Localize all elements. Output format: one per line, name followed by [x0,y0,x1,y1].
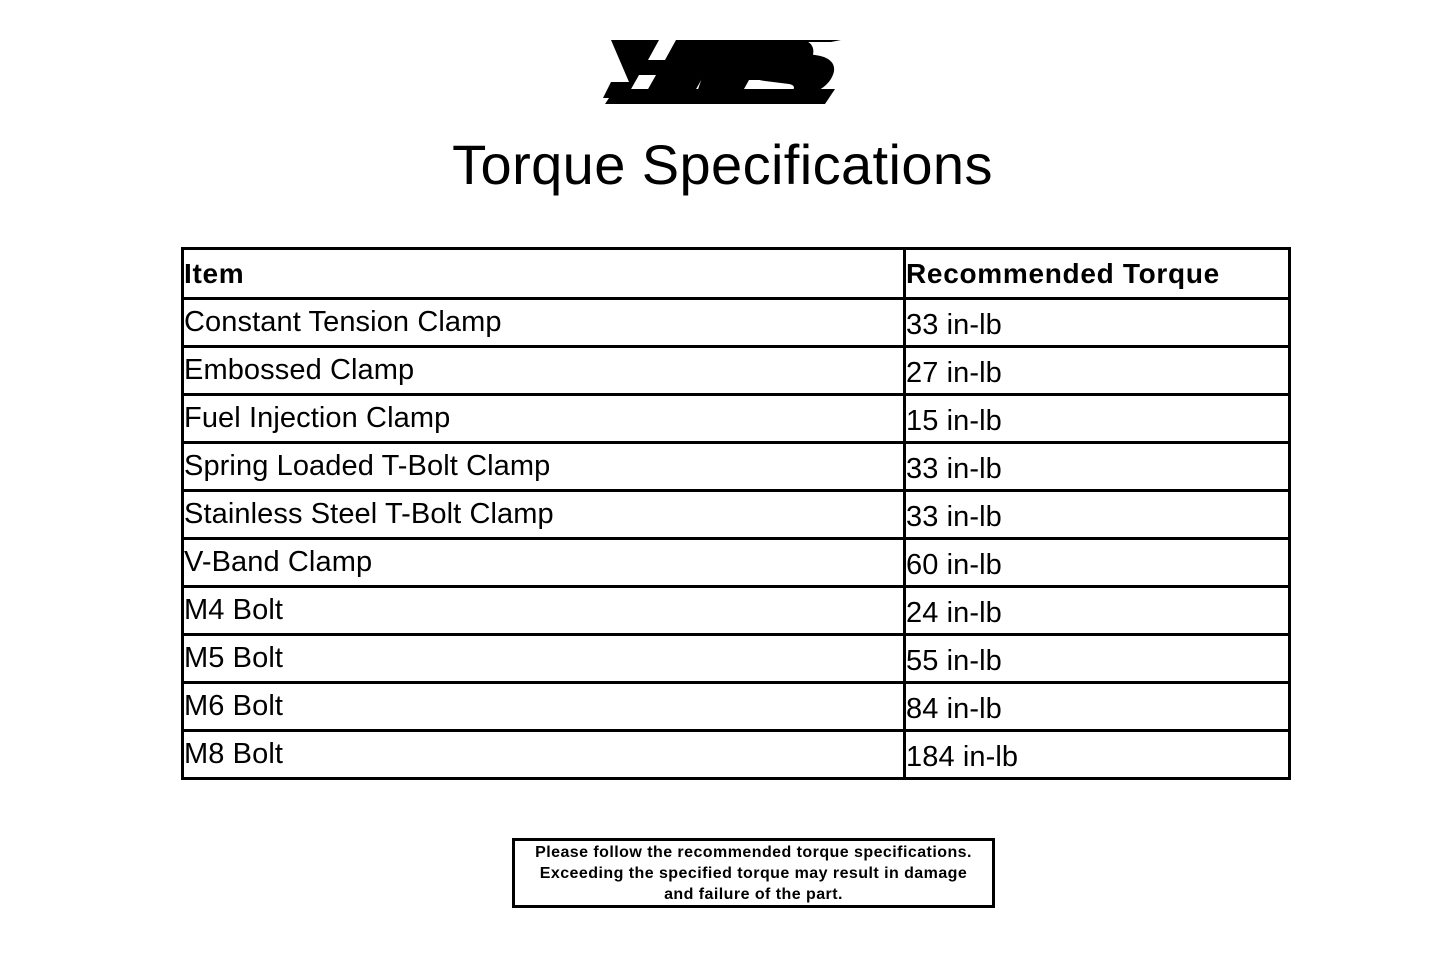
cell-item: M8 Bolt [183,731,905,779]
table-row: Fuel Injection Clamp 15 in-lb [183,395,1290,443]
column-header-torque: Recommended Torque [905,249,1290,299]
torque-table-container: Item Recommended Torque Constant Tension… [181,247,1288,780]
table-body: Constant Tension Clamp 33 in-lb Embossed… [183,299,1290,779]
cell-torque: 55 in-lb [905,638,1290,686]
cell-item: M5 Bolt [183,635,905,683]
cell-torque: 15 in-lb [905,398,1290,446]
cell-torque: 184 in-lb [905,734,1290,782]
cell-item: M4 Bolt [183,587,905,635]
brand-logo [0,34,1445,110]
page-title: Torque Specifications [0,130,1445,200]
cell-torque: 33 in-lb [905,302,1290,350]
footnote-line: and failure of the part. [664,884,843,905]
footnote-line: Please follow the recommended torque spe… [535,842,972,863]
table-row: Embossed Clamp 27 in-lb [183,347,1290,395]
table-row: M6 Bolt 84 in-lb [183,683,1290,731]
cell-torque: 33 in-lb [905,494,1290,542]
cell-item: M6 Bolt [183,683,905,731]
table-row: Constant Tension Clamp 33 in-lb [183,299,1290,347]
cell-item: Fuel Injection Clamp [183,395,905,443]
cell-item: Constant Tension Clamp [183,299,905,347]
cell-torque: 24 in-lb [905,590,1290,638]
cell-item: Stainless Steel T-Bolt Clamp [183,491,905,539]
cell-item: Embossed Clamp [183,347,905,395]
cell-item: V-Band Clamp [183,539,905,587]
torque-specifications-table: Item Recommended Torque Constant Tension… [181,247,1291,780]
cell-torque: 27 in-lb [905,350,1290,398]
footnote-line: Exceeding the specified torque may resul… [540,863,968,884]
footnote-warning-box: Please follow the recommended torque spe… [512,838,995,908]
table-row: M5 Bolt 55 in-lb [183,635,1290,683]
table-row: V-Band Clamp 60 in-lb [183,539,1290,587]
table-header-row: Item Recommended Torque [183,249,1290,299]
table-row: M8 Bolt 184 in-lb [183,731,1290,779]
hps-logo-icon [603,34,843,104]
cell-item: Spring Loaded T-Bolt Clamp [183,443,905,491]
table-row: M4 Bolt 24 in-lb [183,587,1290,635]
table-row: Spring Loaded T-Bolt Clamp 33 in-lb [183,443,1290,491]
cell-torque: 60 in-lb [905,542,1290,590]
cell-torque: 33 in-lb [905,446,1290,494]
column-header-item: Item [183,249,905,299]
table-header: Item Recommended Torque [183,249,1290,299]
cell-torque: 84 in-lb [905,686,1290,734]
table-row: Stainless Steel T-Bolt Clamp 33 in-lb [183,491,1290,539]
